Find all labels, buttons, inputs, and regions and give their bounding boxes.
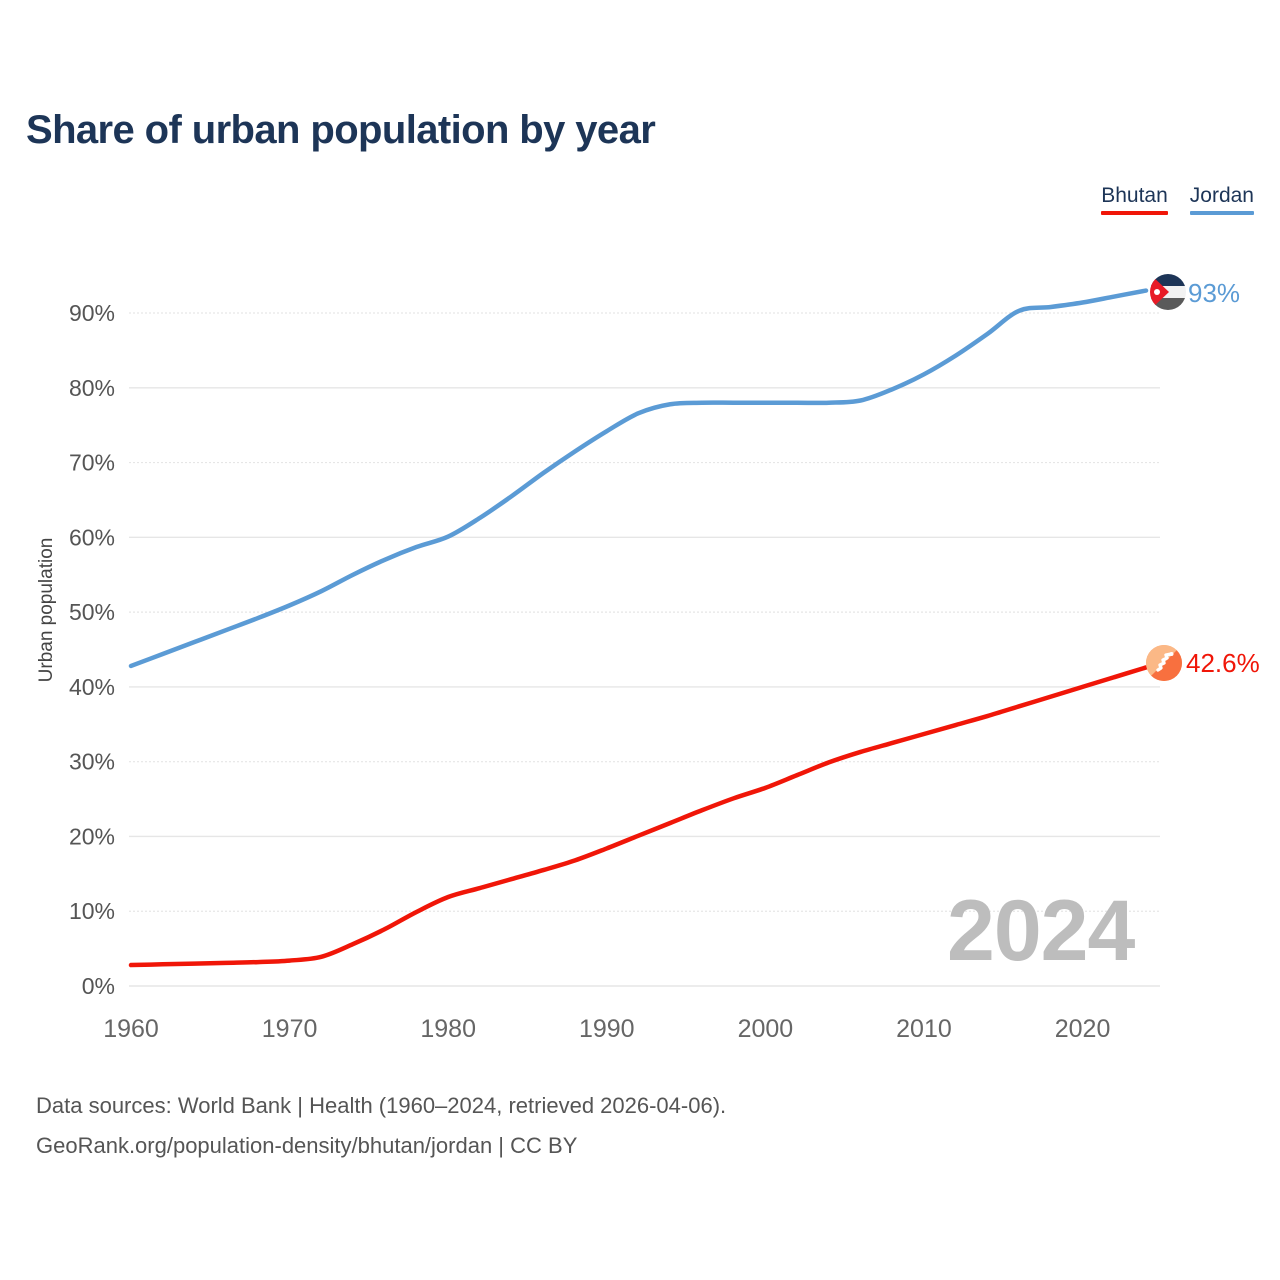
x-tick-label: 2000 (738, 1015, 794, 1043)
endpoint-label-jordan: 93% (1188, 278, 1240, 309)
footer: Data sources: World Bank | Health (1960–… (36, 1086, 726, 1166)
endpoint-label-bhutan: 42.6% (1186, 648, 1260, 679)
y-tick-label: 0% (82, 973, 115, 999)
x-tick-label: 1970 (262, 1015, 318, 1043)
y-tick-label: 90% (69, 300, 115, 326)
x-tick-label: 2020 (1055, 1015, 1111, 1043)
y-tick-label: 70% (69, 450, 115, 476)
y-tick-label: 20% (69, 823, 115, 849)
x-axis-ticks: 1960197019801990200020102020 (103, 1015, 1110, 1043)
x-tick-label: 2010 (896, 1015, 952, 1043)
x-tick-label: 1980 (420, 1015, 476, 1043)
y-tick-label: 50% (69, 599, 115, 625)
y-tick-label: 40% (69, 674, 115, 700)
jordan-flag-icon (1150, 274, 1186, 310)
y-axis-title: Urban population (36, 538, 57, 683)
chart-page: Share of urban population by year Bhutan… (0, 0, 1280, 1280)
footer-line-sources: Data sources: World Bank | Health (1960–… (36, 1086, 726, 1126)
y-tick-label: 30% (69, 749, 115, 775)
bhutan-flag-icon (1146, 645, 1182, 681)
series-line-jordan (131, 291, 1146, 666)
x-tick-label: 1960 (103, 1015, 159, 1043)
footer-line-attribution: GeoRank.org/population-density/bhutan/jo… (36, 1126, 726, 1166)
year-watermark: 2024 (947, 888, 1134, 974)
x-tick-label: 1990 (579, 1015, 635, 1043)
y-tick-label: 60% (69, 524, 115, 550)
y-tick-label: 10% (69, 898, 115, 924)
y-axis-ticks: 0%10%20%30%40%50%60%70%80%90% (69, 300, 115, 999)
y-tick-label: 80% (69, 375, 115, 401)
